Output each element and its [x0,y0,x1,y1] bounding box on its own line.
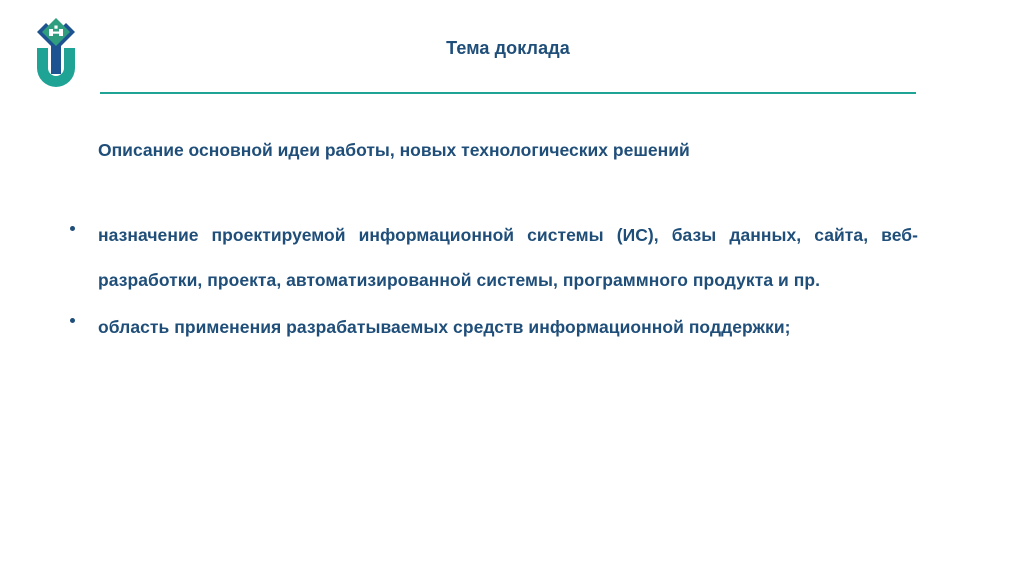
title-divider [100,92,916,94]
bullet-dot-icon [70,226,75,231]
slide-body: Описание основной идеи работы, новых тех… [0,110,1024,574]
bullet-list: назначение проектируемой информационной … [64,213,918,352]
presentation-slide: Тема доклада Описание основной идеи рабо… [0,0,1024,574]
bullet-dot-icon [70,318,75,323]
list-item-text: область применения разрабатываемых средс… [98,305,918,350]
university-logo [30,18,82,90]
slide-header: Тема доклада [0,0,1024,110]
list-item: назначение проектируемой информационной … [64,213,918,303]
list-item-text: назначение проектируемой информационной … [98,213,918,303]
lead-paragraph: Описание основной идеи работы, новых тех… [98,138,918,162]
university-logo-icon [30,18,82,90]
list-item: область применения разрабатываемых средс… [64,305,918,350]
page-title: Тема доклада [100,36,916,60]
